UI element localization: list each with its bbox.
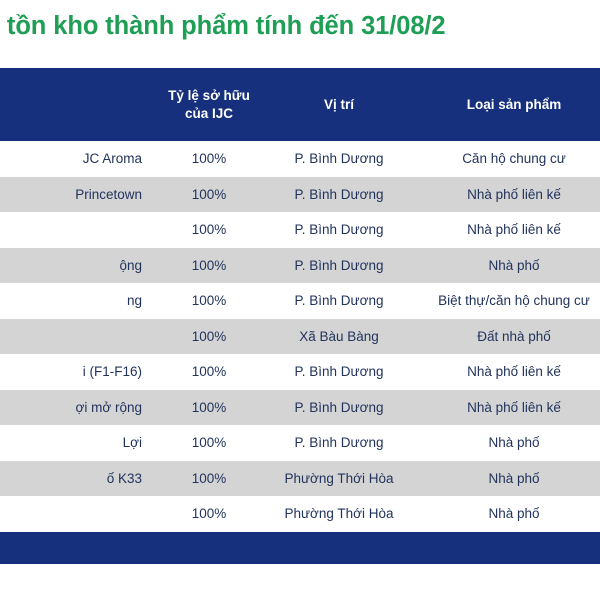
table-header: Tỷ lệ sở hữu của IJC Vị trí Loại sản phẩ…	[0, 68, 600, 141]
table-row: 100% Phường Thới Hòa Nhà phố 57	[0, 496, 600, 532]
footer-cell-location	[264, 532, 414, 564]
cell-ownership: 100%	[154, 248, 264, 284]
cell-location: P. Bình Dương	[264, 425, 414, 461]
table-row: ợi mở rộng 100% P. Bình Dương Nhà phố li…	[0, 390, 600, 426]
cell-product-type: Nhà phố	[414, 248, 600, 284]
cell-location: P. Bình Dương	[264, 390, 414, 426]
footer-cell-product-type	[414, 532, 600, 564]
cell-project-name: ố K33	[0, 461, 154, 497]
table-row: Princetown 100% P. Bình Dương Nhà phố li…	[0, 177, 600, 213]
column-header-name	[0, 68, 154, 141]
cell-product-type: Nhà phố liên kế	[414, 212, 600, 248]
column-header-ownership: Tỷ lệ sở hữu của IJC	[154, 68, 264, 141]
column-header-location: Vị trí	[264, 68, 414, 141]
cell-product-type: Biệt thự/căn hộ chung cư	[414, 283, 600, 319]
cell-ownership: 100%	[154, 390, 264, 426]
inventory-table-container: Tỷ lệ sở hữu của IJC Vị trí Loại sản phẩ…	[0, 68, 600, 568]
cell-location: P. Bình Dương	[264, 141, 414, 177]
cell-ownership: 100%	[154, 354, 264, 390]
cell-project-name	[0, 496, 154, 532]
cell-ownership: 100%	[154, 425, 264, 461]
table-row: ố K33 100% Phường Thới Hòa Nhà phố 10	[0, 461, 600, 497]
cell-location: P. Bình Dương	[264, 177, 414, 213]
cell-product-type: Nhà phố liên kế	[414, 177, 600, 213]
cell-project-name: i (F1-F16)	[0, 354, 154, 390]
footer-cell-ownership	[154, 532, 264, 564]
cell-location: Xã Bàu Bàng	[264, 319, 414, 355]
table-row: 100% Xã Bàu Bàng Đất nhà phố 14	[0, 319, 600, 355]
cell-product-type: Căn hộ chung cư	[414, 141, 600, 177]
table-row: ng 100% P. Bình Dương Biệt thự/căn hộ ch…	[0, 283, 600, 319]
column-header-product-type: Loại sản phẩm	[414, 68, 600, 141]
table-row: i (F1-F16) 100% P. Bình Dương Nhà phố li…	[0, 354, 600, 390]
cell-project-name: Lợi	[0, 425, 154, 461]
cell-project-name: JC Aroma	[0, 141, 154, 177]
cell-location: Phường Thới Hòa	[264, 461, 414, 497]
cell-ownership: 100%	[154, 177, 264, 213]
cell-project-name: ộng	[0, 248, 154, 284]
inventory-table: Tỷ lệ sở hữu của IJC Vị trí Loại sản phẩ…	[0, 68, 600, 564]
cell-product-type: Nhà phố	[414, 425, 600, 461]
table-row: Lợi 100% P. Bình Dương Nhà phố 12	[0, 425, 600, 461]
cell-product-type: Nhà phố	[414, 461, 600, 497]
footer-cell-name	[0, 532, 154, 564]
table-footer: 1.20	[0, 532, 600, 564]
cell-product-type: Đất nhà phố	[414, 319, 600, 355]
table-header-row: Tỷ lệ sở hữu của IJC Vị trí Loại sản phẩ…	[0, 68, 600, 141]
cell-ownership: 100%	[154, 496, 264, 532]
table-body: JC Aroma 100% P. Bình Dương Căn hộ chung…	[0, 141, 600, 532]
cell-location: P. Bình Dương	[264, 212, 414, 248]
cell-project-name	[0, 212, 154, 248]
cell-product-type: Nhà phố liên kế	[414, 390, 600, 426]
cell-ownership: 100%	[154, 141, 264, 177]
cell-product-type: Nhà phố	[414, 496, 600, 532]
table-row: 100% P. Bình Dương Nhà phố liên kế 11	[0, 212, 600, 248]
table-total-row: 1.20	[0, 532, 600, 564]
cell-project-name	[0, 319, 154, 355]
cell-ownership: 100%	[154, 319, 264, 355]
cell-project-name: Princetown	[0, 177, 154, 213]
cell-location: P. Bình Dương	[264, 283, 414, 319]
cell-location: P. Bình Dương	[264, 354, 414, 390]
cell-ownership: 100%	[154, 212, 264, 248]
table-row: JC Aroma 100% P. Bình Dương Căn hộ chung…	[0, 141, 600, 177]
cell-project-name: ng	[0, 283, 154, 319]
cell-ownership: 100%	[154, 461, 264, 497]
table-row: ộng 100% P. Bình Dương Nhà phố 3	[0, 248, 600, 284]
cell-location: P. Bình Dương	[264, 248, 414, 284]
page-title: đất tồn kho thành phẩm tính đến 31/08/2	[0, 12, 445, 41]
report-title-banner: đất tồn kho thành phẩm tính đến 31/08/2	[0, 0, 600, 68]
cell-location: Phường Thới Hòa	[264, 496, 414, 532]
cell-ownership: 100%	[154, 283, 264, 319]
cell-project-name: ợi mở rộng	[0, 390, 154, 426]
cell-product-type: Nhà phố liên kế	[414, 354, 600, 390]
